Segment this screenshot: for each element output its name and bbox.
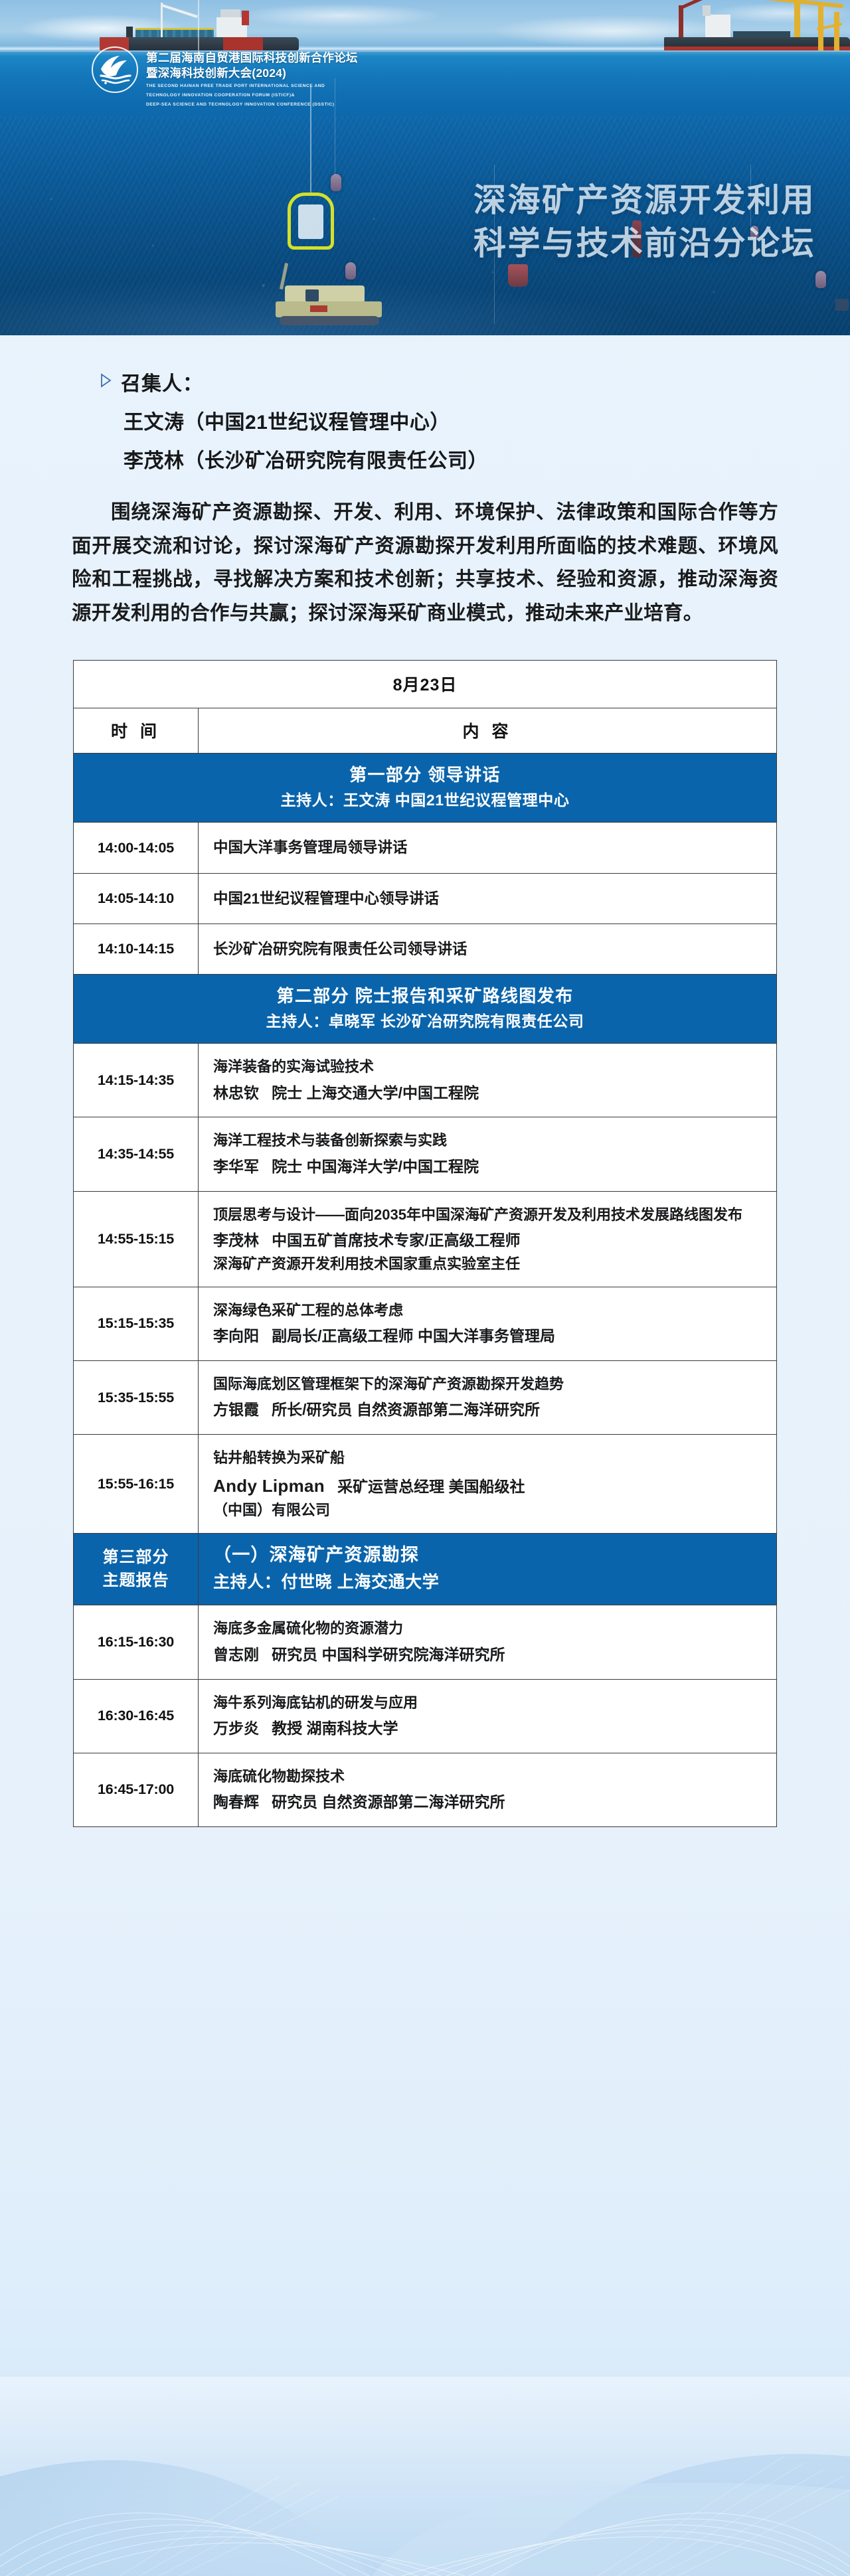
table-row: 15:15-15:35 深海绿色采矿工程的总体考虑 李向阳 副局长/正高级工程师… [74, 1287, 777, 1360]
speaker-name: 林忠钦 [213, 1084, 259, 1101]
buoy-icon [815, 271, 826, 288]
speaker-name: 万步炎 [213, 1720, 259, 1737]
table-row: 14:55-15:15 顶层思考与设计——面向2035年中国深海矿产资源开发及利… [74, 1191, 777, 1287]
talk-speaker: 李华军 院士 中国海洋大学/中国工程院 [213, 1155, 766, 1179]
hero-banner: 第二届海南自贸港国际科技创新合作论坛 暨深海科技创新大会(2024) THE S… [0, 0, 850, 335]
triangle-right-icon [100, 370, 112, 393]
intro-paragraph: 围绕深海矿产资源勘探、开发、利用、环境保护、法律政策和国际合作等方面开展交流和讨… [72, 496, 778, 631]
speaker-extra: （中国）有限公司 [213, 1499, 766, 1521]
agenda-date-row: 8月23日 [74, 660, 777, 708]
talk-speaker: 林忠钦 院士 上海交通大学/中国工程院 [213, 1082, 766, 1105]
talk-title: 海底硫化物勘探技术 [213, 1765, 766, 1788]
talk-title: 顶层思考与设计——面向2035年中国深海矿产资源开发及利用技术发展路线图发布 [213, 1204, 766, 1226]
speaker-name: 方银霞 [213, 1401, 259, 1418]
row-content: 中国大洋事务管理局领导讲话 [199, 823, 777, 873]
row-content: 钻井船转换为采矿船 Andy Lipman 采矿运营总经理 美国船级社 （中国）… [199, 1435, 777, 1534]
section-banner-3-left: 第三部分 主题报告 [74, 1534, 199, 1605]
convener-label: 召集人： [121, 367, 203, 396]
section-part-sublabel: 主题报告 [74, 1570, 198, 1593]
row-time: 14:05-14:10 [74, 873, 199, 924]
table-row: 14:10-14:15 长沙矿冶研究院有限责任公司领导讲话 [74, 924, 777, 974]
section-heading: 第二部分 院士报告和采矿路线图发布 [80, 985, 770, 1008]
rov-lander-icon [288, 193, 334, 250]
table-row: 16:15-16:30 海底多金属硫化物的资源潜力 曾志刚 研究员 中国科学研究… [74, 1605, 777, 1679]
sampler-cluster-icon [508, 264, 528, 287]
talk-speaker: 李茂林 中国五矿首席技术专家/正高级工程师 [213, 1229, 766, 1253]
talk-title: 海底多金属硫化物的资源潜力 [213, 1617, 766, 1640]
wave-sail-logo-icon [92, 46, 138, 93]
speaker-name: 李茂林 [213, 1232, 259, 1249]
table-row: 16:45-17:00 海底硫化物勘探技术 陶春辉 研究员 自然资源部第二海洋研… [74, 1753, 777, 1826]
conference-logo: 第二届海南自贸港国际科技创新合作论坛 暨深海科技创新大会(2024) THE S… [92, 46, 358, 108]
section-heading: （一）深海矿产资源勘探 [213, 1543, 770, 1568]
poster-page: 第二届海南自贸港国际科技创新合作论坛 暨深海科技创新大会(2024) THE S… [0, 0, 850, 2576]
row-content: 海洋工程技术与装备创新探索与实践 李华军 院士 中国海洋大学/中国工程院 [199, 1117, 777, 1191]
row-content: 中国21世纪议程管理中心领导讲话 [199, 873, 777, 924]
section-banner-2: 第二部分 院士报告和采矿路线图发布 主持人：卓晓军 长沙矿冶研究院有限责任公司 [74, 974, 777, 1044]
column-header-time: 时 间 [74, 708, 199, 753]
logo-cn-line-1: 第二届海南自贸港国际科技创新合作论坛 [146, 50, 358, 66]
anchor-block-icon [305, 289, 319, 301]
speaker-name: 李华军 [213, 1158, 259, 1175]
speaker-affiliation: 研究员 自然资源部第二海洋研究所 [272, 1793, 505, 1811]
row-time: 15:35-15:55 [74, 1361, 199, 1435]
row-content: 长沙矿冶研究院有限责任公司领导讲话 [199, 924, 777, 974]
speaker-affiliation: 院士 中国海洋大学/中国工程院 [272, 1158, 479, 1175]
buoy-icon [331, 174, 341, 191]
speaker-extra: 深海矿产资源开发利用技术国家重点实验室主任 [213, 1253, 766, 1275]
talk-speaker: 陶春辉 研究员 自然资源部第二海洋研究所 [213, 1791, 766, 1814]
section-host: 主持人：付世晓 上海交通大学 [213, 1571, 770, 1595]
section-part-label: 第三部分 [74, 1546, 198, 1570]
page-title-line-1: 深海矿产资源开发利用 [473, 179, 815, 222]
table-row: 15:55-16:15 钻井船转换为采矿船 Andy Lipman 采矿运营总经… [74, 1435, 777, 1534]
talk-title: 深海绿色采矿工程的总体考虑 [213, 1299, 766, 1322]
section-banner-row: 第三部分 主题报告 （一）深海矿产资源勘探 主持人：付世晓 上海交通大学 [74, 1534, 777, 1605]
logo-en-line-3: DEEP-SEA SCIENCE AND TECHNOLOGY INNOVATI… [146, 102, 358, 109]
talk-speaker: 万步炎 教授 湖南科技大学 [213, 1717, 766, 1741]
row-time: 14:35-14:55 [74, 1117, 199, 1191]
speaker-affiliation: 研究员 中国科学研究院海洋研究所 [272, 1646, 505, 1663]
talk-speaker: 李向阳 副局长/正高级工程师 中国大洋事务管理局 [213, 1325, 766, 1348]
row-time: 14:55-15:15 [74, 1191, 199, 1287]
row-time: 14:15-14:35 [74, 1044, 199, 1117]
row-time: 16:30-16:45 [74, 1679, 199, 1753]
row-content: 海洋装备的实海试验技术 林忠钦 院士 上海交通大学/中国工程院 [199, 1044, 777, 1117]
talk-speaker: 曾志刚 研究员 中国科学研究院海洋研究所 [213, 1643, 766, 1667]
cargo-ship-icon [100, 9, 299, 50]
row-content: 海底硫化物勘探技术 陶春辉 研究员 自然资源部第二海洋研究所 [199, 1753, 777, 1826]
agenda-table: 8月23日 时 间 内 容 第一部分 领导讲话 主持人：王文涛 中国21世纪议程… [73, 660, 777, 1827]
row-time: 15:15-15:35 [74, 1287, 199, 1360]
agenda-date: 8月23日 [74, 660, 777, 708]
seabed-mining-vehicle-icon [276, 285, 382, 327]
section-banner-row: 第一部分 领导讲话 主持人：王文涛 中国21世纪议程管理中心 [74, 753, 777, 823]
row-content: 海牛系列海底钻机的研发与应用 万步炎 教授 湖南科技大学 [199, 1679, 777, 1753]
row-time: 14:00-14:05 [74, 823, 199, 873]
content-area: 召集人： 王文涛（中国21世纪议程管理中心） 李茂林（长沙矿冶研究院有限责任公司… [0, 335, 850, 1827]
table-row: 14:15-14:35 海洋装备的实海试验技术 林忠钦 院士 上海交通大学/中国… [74, 1044, 777, 1117]
speaker-name: 李向阳 [213, 1327, 259, 1344]
speaker-name: Andy Lipman [213, 1476, 325, 1496]
anchor-block-icon [835, 299, 849, 311]
port-crane-icon [811, 1, 850, 50]
column-header-content: 内 容 [199, 708, 777, 753]
talk-title: 钻井船转换为采矿船 [213, 1447, 766, 1469]
table-row: 14:05-14:10 中国21世纪议程管理中心领导讲话 [74, 873, 777, 924]
talk-speaker: Andy Lipman 采矿运营总经理 美国船级社 [213, 1473, 766, 1500]
convener-heading: 召集人： [100, 367, 850, 396]
talk-title: 海牛系列海底钻机的研发与应用 [213, 1692, 766, 1714]
speaker-name: 陶春辉 [213, 1793, 259, 1811]
table-row: 15:35-15:55 国际海底划区管理框架下的深海矿产资源勘探开发趋势 方银霞… [74, 1361, 777, 1435]
speaker-affiliation: 中国五矿首席技术专家/正高级工程师 [272, 1232, 520, 1249]
table-row: 14:00-14:05 中国大洋事务管理局领导讲话 [74, 823, 777, 873]
page-title-line-2: 科学与技术前沿分论坛 [473, 222, 815, 266]
footer-decoration [0, 2377, 850, 2576]
row-time: 15:55-16:15 [74, 1435, 199, 1534]
talk-speaker: 方银霞 所长/研究员 自然资源部第二海洋研究所 [213, 1398, 766, 1422]
talk-title: 国际海底划区管理框架下的深海矿产资源勘探开发趋势 [213, 1373, 766, 1396]
table-row: 14:35-14:55 海洋工程技术与装备创新探索与实践 李华军 院士 中国海洋… [74, 1117, 777, 1191]
speaker-name: 曾志刚 [213, 1646, 259, 1663]
row-time: 14:10-14:15 [74, 924, 199, 974]
agenda-header-row: 时 间 内 容 [74, 708, 777, 753]
convener-person-1: 王文涛（中国21世纪议程管理中心） [100, 406, 850, 435]
page-title: 深海矿产资源开发利用 科学与技术前沿分论坛 [473, 179, 815, 265]
buoy-icon [345, 262, 356, 280]
row-time: 16:45-17:00 [74, 1753, 199, 1826]
table-row: 16:30-16:45 海牛系列海底钻机的研发与应用 万步炎 教授 湖南科技大学 [74, 1679, 777, 1753]
row-content: 海底多金属硫化物的资源潜力 曾志刚 研究员 中国科学研究院海洋研究所 [199, 1605, 777, 1679]
speaker-affiliation: 采矿运营总经理 美国船级社 [337, 1478, 525, 1495]
row-time: 16:15-16:30 [74, 1605, 199, 1679]
row-content: 深海绿色采矿工程的总体考虑 李向阳 副局长/正高级工程师 中国大洋事务管理局 [199, 1287, 777, 1360]
row-content: 国际海底划区管理框架下的深海矿产资源勘探开发趋势 方银霞 所长/研究员 自然资源… [199, 1361, 777, 1435]
section-banner-1: 第一部分 领导讲话 主持人：王文涛 中国21世纪议程管理中心 [74, 753, 777, 823]
speaker-affiliation: 院士 上海交通大学/中国工程院 [272, 1084, 479, 1101]
speaker-affiliation: 教授 湖南科技大学 [272, 1720, 398, 1737]
section-heading: 第一部分 领导讲话 [80, 764, 770, 787]
section-host: 主持人：王文涛 中国21世纪议程管理中心 [80, 789, 770, 811]
logo-cn-line-2: 暨深海科技创新大会(2024) [146, 66, 358, 81]
logo-en-line-1: THE SECOND HAINAN FREE TRADE PORT INTERN… [146, 83, 358, 90]
convener-block: 召集人： 王文涛（中国21世纪议程管理中心） 李茂林（长沙矿冶研究院有限责任公司… [0, 367, 850, 473]
section-banner-row: 第二部分 院士报告和采矿路线图发布 主持人：卓晓军 长沙矿冶研究院有限责任公司 [74, 974, 777, 1044]
section-host: 主持人：卓晓军 长沙矿冶研究院有限责任公司 [80, 1010, 770, 1032]
talk-title: 海洋工程技术与装备创新探索与实践 [213, 1129, 766, 1152]
convener-person-2: 李茂林（长沙矿冶研究院有限责任公司） [100, 444, 850, 473]
section-banner-3-right: （一）深海矿产资源勘探 主持人：付世晓 上海交通大学 [199, 1534, 777, 1605]
speaker-affiliation: 副局长/正高级工程师 中国大洋事务管理局 [272, 1327, 555, 1344]
speaker-affiliation: 所长/研究员 自然资源部第二海洋研究所 [272, 1401, 540, 1418]
talk-title: 海洋装备的实海试验技术 [213, 1056, 766, 1078]
logo-en-line-2: TECHNOLOGY INNOVATION COOPERATION FORUM … [146, 92, 358, 100]
row-content: 顶层思考与设计——面向2035年中国深海矿产资源开发及利用技术发展路线图发布 李… [199, 1191, 777, 1287]
